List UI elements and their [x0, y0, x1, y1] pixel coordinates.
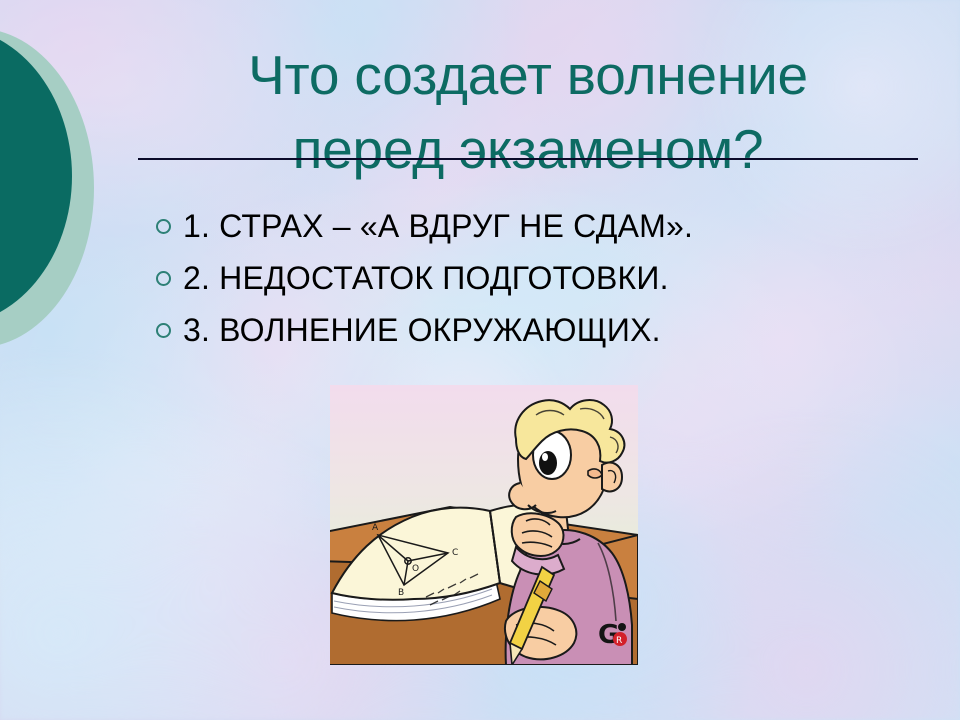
watermark-badge-mark: R — [616, 636, 622, 646]
boy-far-eye — [588, 469, 602, 478]
title-divider-rule — [138, 158, 918, 160]
boy-ear — [602, 463, 622, 492]
list-item: 2. НЕДОСТАТОК ПОДГОТОВКИ. — [156, 252, 916, 304]
circle-outline-bullet-icon — [156, 323, 171, 338]
label-vertex-b: B — [398, 588, 404, 598]
list-item-label: 1. СТРАХ – «А ВДРУГ НЕ СДАМ». — [183, 210, 916, 242]
boy-eye-pupil — [539, 451, 557, 475]
label-vertex-a: A — [372, 523, 379, 533]
presentation-slide: Что создает волнение перед экзаменом? 1.… — [0, 0, 960, 720]
list-item-label: 3. ВОЛНЕНИЕ ОКРУЖАЮЩИХ. — [183, 314, 916, 346]
page-title: Что создает волнение перед экзаменом? — [120, 39, 936, 186]
list-item: 3. ВОЛНЕНИЕ ОКРУЖАЮЩИХ. — [156, 304, 916, 356]
bullet-list: 1. СТРАХ – «А ВДРУГ НЕ СДАМ». 2. НЕДОСТА… — [156, 200, 916, 356]
watermark-dot — [618, 623, 626, 631]
cartoon-student-thinking-image: A C B O — [330, 385, 638, 665]
boy-eye-highlight — [542, 453, 548, 461]
list-item: 1. СТРАХ – «А ВДРУГ НЕ СДАМ». — [156, 200, 916, 252]
circle-outline-bullet-icon — [156, 219, 171, 234]
list-item-label: 2. НЕДОСТАТОК ПОДГОТОВКИ. — [183, 262, 916, 294]
circle-outline-bullet-icon — [156, 271, 171, 286]
label-vertex-c: C — [452, 548, 458, 558]
label-point-o: O — [412, 564, 419, 574]
